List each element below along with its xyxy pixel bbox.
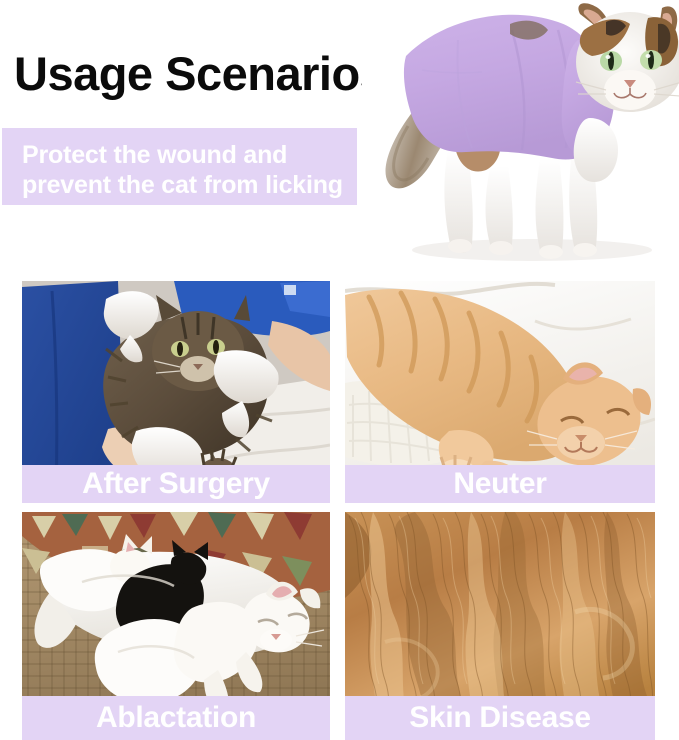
skin-disease-label-bar: Skin Disease <box>345 696 655 740</box>
hero-banner: Protect the wound and prevent the cat fr… <box>2 128 357 205</box>
scenario-card-after-surgery[interactable]: After Surgery <box>22 281 330 503</box>
scenario-card-ablactation[interactable]: Ablactation <box>22 512 330 740</box>
usage-scenarios-infographic: Usage Scenarios Protect the wound and pr… <box>0 0 679 740</box>
hero-banner-text: Protect the wound and prevent the cat fr… <box>22 141 352 200</box>
scenario-grid: After Surgery <box>0 276 679 740</box>
ablactation-label: Ablactation <box>96 703 256 733</box>
ablactation-label-bar: Ablactation <box>22 696 330 740</box>
hero-banner-line-2: prevent the cat from licking <box>22 171 352 201</box>
page-title: Usage Scenarios <box>14 50 385 97</box>
scenario-card-neuter[interactable]: Neuter <box>345 281 655 503</box>
after-surgery-label: After Surgery <box>82 469 270 499</box>
scenario-card-skin-disease[interactable]: Skin Disease <box>345 512 655 740</box>
hero-photo-cat-in-recovery-suit <box>362 0 679 268</box>
hero-section: Usage Scenarios Protect the wound and pr… <box>0 0 679 272</box>
neuter-label-bar: Neuter <box>345 465 655 503</box>
hero-banner-line-1: Protect the wound and <box>22 141 352 171</box>
after-surgery-label-bar: After Surgery <box>22 465 330 503</box>
skin-disease-label: Skin Disease <box>409 703 591 733</box>
neuter-label: Neuter <box>453 469 546 499</box>
cat-head <box>576 3 679 112</box>
